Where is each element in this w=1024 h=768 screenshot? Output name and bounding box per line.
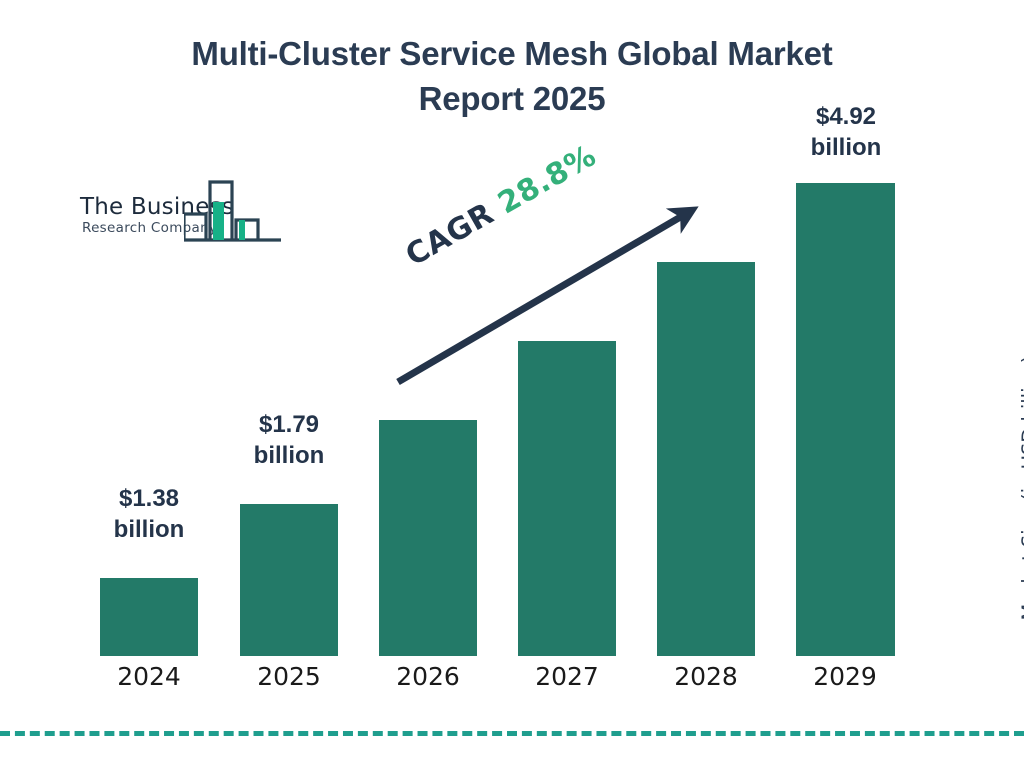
x-tick-label-2024: 2024 (99, 662, 199, 691)
bar-2026 (379, 420, 477, 656)
bar-2025 (240, 504, 338, 656)
growth-arrow-icon (380, 190, 710, 395)
chart-title-line-1: Multi-Cluster Service Mesh Global Market (112, 32, 912, 77)
bar-2024 (100, 578, 198, 656)
bar-chart-logo-icon (184, 176, 284, 248)
bar-2029 (796, 183, 895, 656)
footer-divider (0, 731, 1024, 736)
y-axis-title: Market Size (in USD billion) (1018, 318, 1024, 658)
bar-value-label-2025: $1.79 billion (219, 410, 359, 471)
chart-canvas: Multi-Cluster Service Mesh Global Market… (0, 0, 1024, 768)
bar-value-label-2029: $4.92 billion (776, 102, 916, 163)
x-tick-label-2025: 2025 (239, 662, 339, 691)
bar-value-label-2024: $1.38 billion (79, 484, 219, 545)
x-tick-label-2029: 2029 (795, 662, 895, 691)
x-tick-label-2028: 2028 (656, 662, 756, 691)
x-tick-label-2027: 2027 (517, 662, 617, 691)
x-tick-label-2026: 2026 (378, 662, 478, 691)
brand-logo: The Business Research Company (78, 176, 284, 248)
